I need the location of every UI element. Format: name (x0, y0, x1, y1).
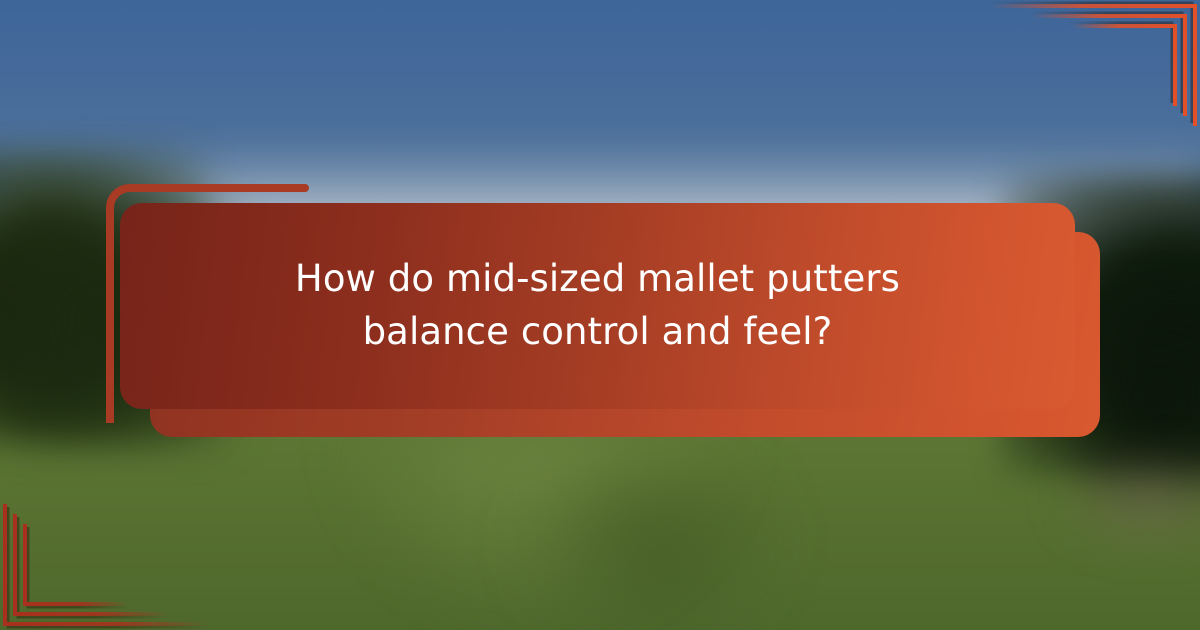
share-card-canvas: How do mid-sized mallet putters balance … (0, 0, 1200, 630)
question-text: How do mid-sized mallet putters balance … (198, 253, 998, 358)
question-card: How do mid-sized mallet putters balance … (120, 203, 1075, 409)
dirt-patch-right (1060, 455, 1200, 545)
fairway-shadow (520, 470, 780, 630)
